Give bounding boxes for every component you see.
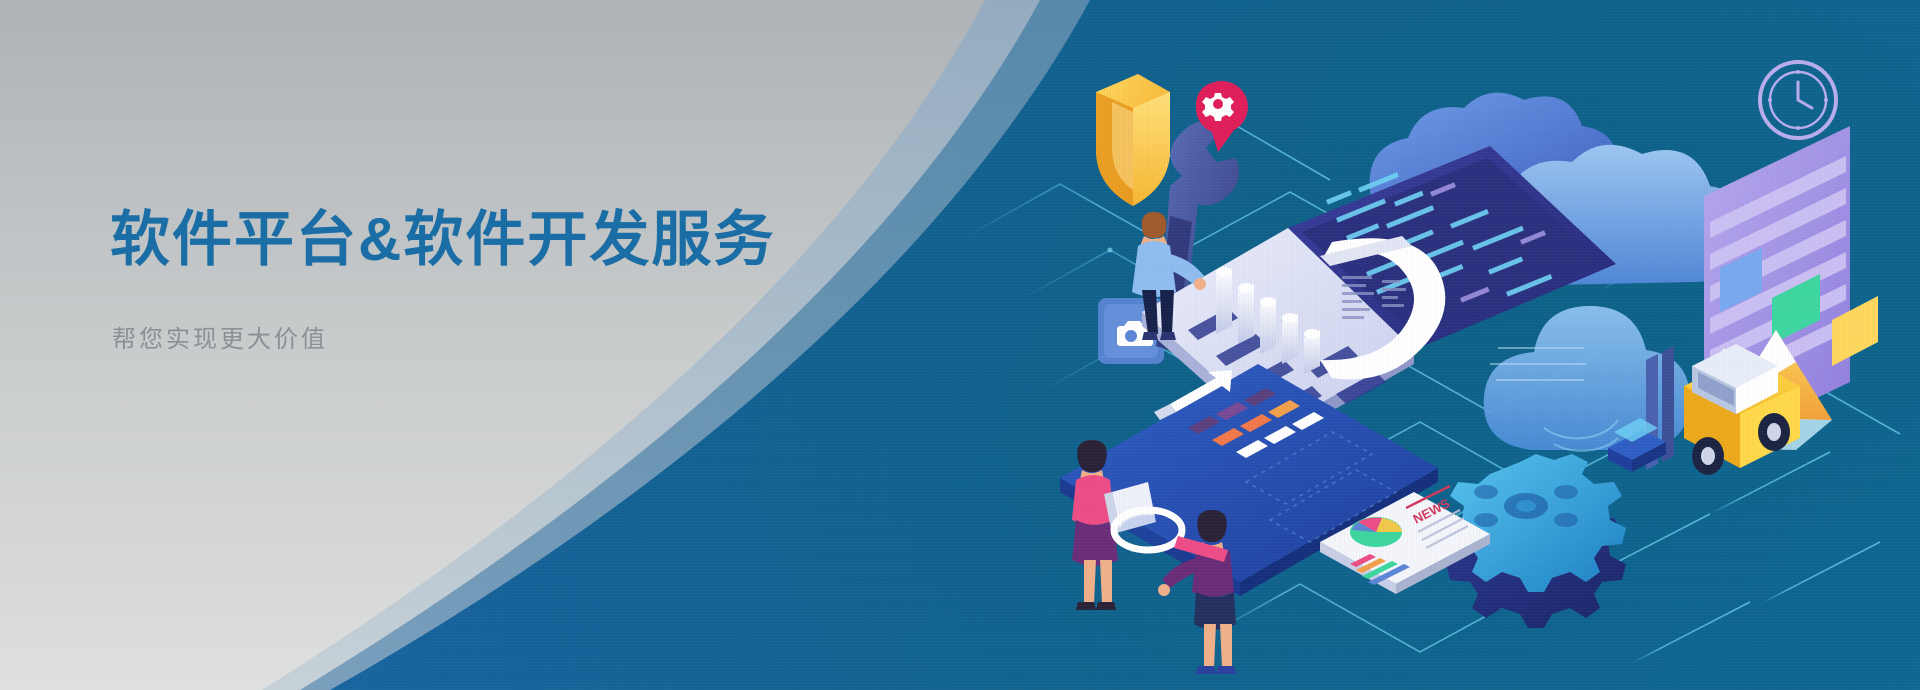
page-title: 软件平台&软件开发服务	[110, 208, 830, 273]
hero-text-block: 软件平台&软件开发服务 帮您实现更大价值	[110, 208, 830, 354]
hero-banner: NEWS	[0, 0, 1920, 690]
page-subtitle: 帮您实现更大价值	[112, 319, 830, 354]
